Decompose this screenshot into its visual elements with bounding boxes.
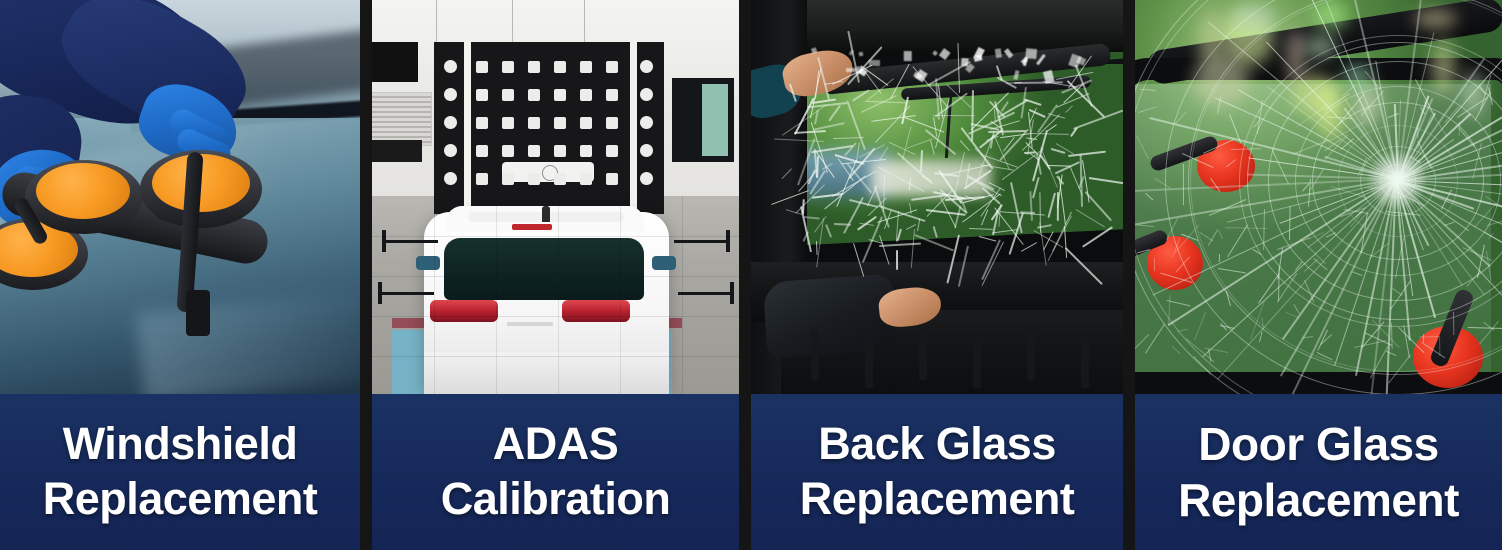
decorative-shape (606, 173, 618, 185)
decorative-shape (476, 89, 488, 101)
decorative-shape (444, 172, 457, 185)
decorative-shape (476, 117, 488, 129)
glass-crack (1014, 81, 1063, 83)
decorative-shape (580, 61, 592, 73)
decorative-shape (554, 173, 566, 185)
decorative-shape (444, 144, 457, 157)
decorative-shape (1027, 330, 1035, 380)
decorative-shape (554, 117, 566, 129)
glass-shard (904, 51, 912, 61)
decorative-shape (502, 61, 514, 73)
adas-calibration-image (372, 0, 739, 394)
decorative-shape (730, 282, 734, 304)
service-card-door-glass-replacement[interactable]: Door Glass Replacement (1135, 0, 1502, 550)
glass-crack (896, 250, 898, 270)
decorative-shape (372, 356, 739, 357)
caption-line-1: Door Glass (1198, 416, 1438, 472)
windshield-replacement-image (0, 0, 360, 394)
decorative-shape (372, 316, 739, 317)
card-divider-3 (1123, 0, 1135, 550)
decorative-shape (444, 88, 457, 101)
decorative-shape (640, 172, 653, 185)
glass-crack (1419, 336, 1438, 338)
glass-shard (869, 59, 880, 65)
decorative-shape (372, 276, 739, 277)
caption-line-2: Calibration (441, 472, 671, 527)
decorative-shape (528, 89, 540, 101)
decorative-shape (606, 117, 618, 129)
decorative-shape (682, 196, 683, 394)
decorative-shape (528, 61, 540, 73)
decorative-shape (606, 145, 618, 157)
decorative-shape (436, 0, 437, 42)
decorative-shape (434, 196, 435, 394)
glass-shard (856, 67, 862, 74)
decorative-shape (476, 173, 488, 185)
decorative-shape (640, 116, 653, 129)
glass-shard (859, 51, 864, 56)
decorative-shape (558, 196, 559, 394)
decorative-shape (372, 236, 739, 237)
windshield-replacement-caption: Windshield Replacement (0, 394, 360, 550)
adas-calibration-caption: ADAS Calibration (372, 394, 739, 550)
decorative-shape (584, 0, 585, 42)
decorative-shape (640, 60, 653, 73)
decorative-shape (1081, 338, 1089, 388)
decorative-shape (674, 240, 730, 243)
decorative-shape (476, 145, 488, 157)
glass-shard (1025, 48, 1037, 59)
decorative-shape (678, 292, 734, 295)
decorative-shape (496, 196, 497, 394)
decorative-shape (620, 196, 621, 394)
decorative-shape (606, 89, 618, 101)
decorative-shape (502, 89, 514, 101)
glass-shard (995, 48, 1002, 58)
caption-line-2: Replacement (800, 472, 1075, 527)
decorative-shape (554, 89, 566, 101)
decorative-shape (726, 230, 730, 252)
card-divider-1 (360, 0, 372, 550)
decorative-shape (378, 292, 434, 295)
decorative-shape (640, 144, 653, 157)
decorative-shape (502, 173, 514, 185)
service-card-adas-calibration[interactable]: ADAS Calibration (372, 0, 739, 550)
services-banner: Windshield Replacement ADAS Calibration (0, 0, 1502, 550)
decorative-shape (444, 116, 457, 129)
decorative-shape (512, 0, 513, 42)
decorative-shape (811, 330, 819, 380)
caption-line-1: Back Glass (818, 417, 1056, 472)
decorative-shape (973, 338, 981, 388)
card-divider-2 (739, 0, 751, 550)
back-glass-replacement-image (751, 0, 1123, 394)
decorative-shape (865, 338, 873, 388)
glass-crack (1153, 258, 1154, 271)
glass-crack (1439, 336, 1440, 356)
back-glass-replacement-caption: Back Glass Replacement (751, 394, 1123, 550)
decorative-shape (580, 117, 592, 129)
caption-line-1: Windshield (63, 417, 298, 472)
decorative-shape (502, 117, 514, 129)
decorative-shape (640, 88, 653, 101)
decorative-shape (382, 230, 386, 252)
decorative-shape (606, 61, 618, 73)
decorative-shape (476, 61, 488, 73)
decorative-shape (554, 145, 566, 157)
decorative-shape (554, 61, 566, 73)
decorative-shape (382, 240, 438, 243)
decorative-shape (528, 145, 540, 157)
service-card-windshield-replacement[interactable]: Windshield Replacement (0, 0, 360, 550)
caption-line-2: Replacement (43, 472, 318, 527)
decorative-shape (580, 173, 592, 185)
decorative-shape (502, 145, 514, 157)
glass-crack (1289, 206, 1291, 240)
glass-crack (1453, 312, 1454, 335)
glass-crack (978, 236, 996, 242)
decorative-shape (919, 330, 927, 380)
decorative-shape (444, 60, 457, 73)
glass-crack (971, 90, 973, 141)
decorative-shape (378, 282, 382, 304)
decorative-shape (580, 89, 592, 101)
decorative-shape (528, 173, 540, 185)
door-glass-replacement-caption: Door Glass Replacement (1135, 394, 1502, 550)
service-card-back-glass-replacement[interactable]: Back Glass Replacement (751, 0, 1123, 550)
decorative-shape (528, 117, 540, 129)
glass-shard (932, 50, 938, 56)
caption-line-1: ADAS (493, 417, 619, 472)
decorative-shape (580, 145, 592, 157)
caption-line-2: Replacement (1178, 472, 1459, 528)
door-glass-replacement-image (1135, 0, 1502, 394)
glass-crack (879, 243, 921, 247)
